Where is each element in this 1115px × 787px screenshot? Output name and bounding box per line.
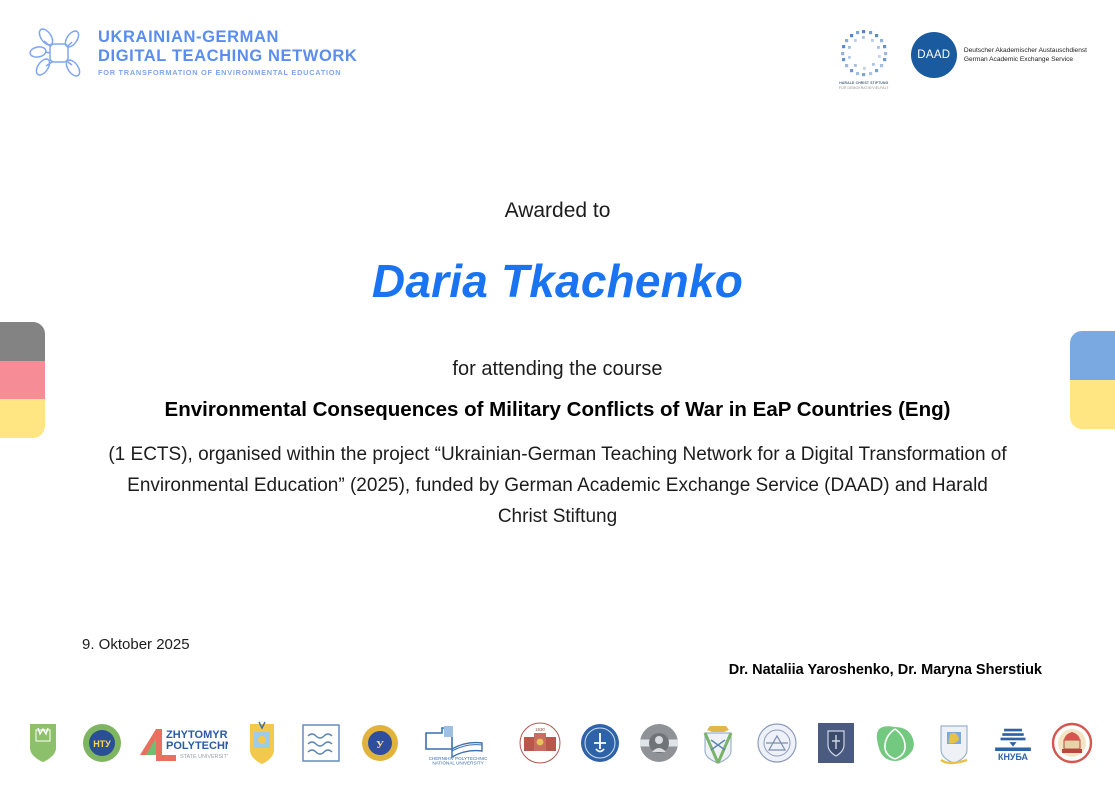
svg-text:NATIONAL UNIVERSITY: NATIONAL UNIVERSITY (433, 761, 484, 766)
certificate-header: UKRAINIAN-GERMAN DIGITAL TEACHING NETWOR… (0, 0, 1115, 110)
daad-subtitle: Deutscher Akademischer Austauschdienst G… (964, 46, 1087, 65)
certificate-description: (1 ECTS), organised within the project “… (108, 439, 1008, 532)
partner-logo-red-circle-seal (1047, 716, 1097, 770)
harald-christ-caption: HARALD CHRIST STIFTUNG FÜR DEMOKRATIE/VI… (833, 81, 895, 90)
project-logo-text: UKRAINIAN-GERMAN DIGITAL TEACHING NETWOR… (98, 28, 357, 79)
svg-text:НТУ: НТУ (93, 739, 111, 749)
partner-logo-lion-crest (929, 716, 979, 770)
svg-text:STATE UNIVERSITY: STATE UNIVERSITY (180, 754, 228, 760)
partner-logo-ntu-wreath: НТУ (77, 716, 127, 770)
svg-text:1930: 1930 (536, 727, 546, 732)
hcs-caption-line2: FÜR DEMOKRATIE/VIELFALT (833, 86, 895, 91)
partner-logo-blue-anchor-seal (575, 716, 625, 770)
recipient-name: Daria Tkachenko (0, 251, 1115, 311)
signatories: Dr. Nataliia Yaroshenko, Dr. Maryna Sher… (729, 662, 1042, 678)
daad-subtitle-de: Deutscher Akademischer Austauschdienst (964, 46, 1087, 55)
partner-logo-strip: НТУ ZHYTOMYR POLYTECHNIC STATE UNIVERSIT… (0, 707, 1115, 779)
project-logo-line1: UKRAINIAN-GERMAN (98, 28, 357, 47)
certificate-body: Awarded to Daria Tkachenko for attending… (0, 196, 1115, 532)
funder-logos: HARALD CHRIST STIFTUNG FÜR DEMOKRATIE/VI… (833, 28, 1087, 90)
issue-date: 9. Oktober 2025 (82, 636, 190, 653)
partner-logo-chernihiv-polytechnic: CHERNIHIV POLYTECHNIC NATIONAL UNIVERSIT… (414, 716, 506, 770)
daad-monogram: DAAD (911, 32, 957, 78)
partner-logo-zhytomyr-polytechnic: ZHYTOMYR POLYTECHNIC STATE UNIVERSITY (136, 716, 228, 770)
project-logo: UKRAINIAN-GERMAN DIGITAL TEACHING NETWOR… (28, 22, 357, 84)
partner-logo-red-building-seal: 1930 (515, 716, 565, 770)
partner-logo-yellow-crest (237, 716, 287, 770)
partner-logo-green-leaf (870, 716, 920, 770)
project-logo-tagline: FOR TRANSFORMATION OF ENVIRONMENTAL EDUC… (98, 67, 357, 79)
hcs-caption-line1: HARALD CHRIST STIFTUNG (839, 81, 888, 85)
svg-text:КНУБА: КНУБА (998, 752, 1028, 762)
partner-logo-navy-shield (811, 716, 861, 770)
partner-logo-pale-blue-seal (752, 716, 802, 770)
daad-subtitle-en: German Academic Exchange Service (964, 55, 1087, 64)
project-logo-line2: DIGITAL TEACHING NETWORK (98, 47, 357, 66)
partner-logo-waves-square (296, 716, 346, 770)
awarded-to-label: Awarded to (0, 196, 1115, 226)
svg-text:У: У (376, 739, 384, 751)
partner-logo-grey-portrait-seal (634, 716, 684, 770)
harald-christ-stiftung-logo: HARALD CHRIST STIFTUNG FÜR DEMOKRATIE/VI… (833, 28, 895, 90)
partner-logo-crowned-crest (693, 716, 743, 770)
svg-text:POLYTECHNIC: POLYTECHNIC (166, 740, 228, 752)
daad-logo: DAAD Deutscher Akademischer Austauschdie… (911, 32, 1087, 78)
dotted-ring-icon (839, 28, 889, 78)
network-nodes-icon (28, 22, 90, 84)
course-title: Environmental Consequences of Military C… (0, 395, 1115, 425)
for-attending-label: for attending the course (0, 355, 1115, 383)
partner-logo-knuba: КНУБА (988, 716, 1038, 770)
partner-logo-gold-crest: У (355, 716, 405, 770)
partner-logo-shield-green (18, 716, 68, 770)
